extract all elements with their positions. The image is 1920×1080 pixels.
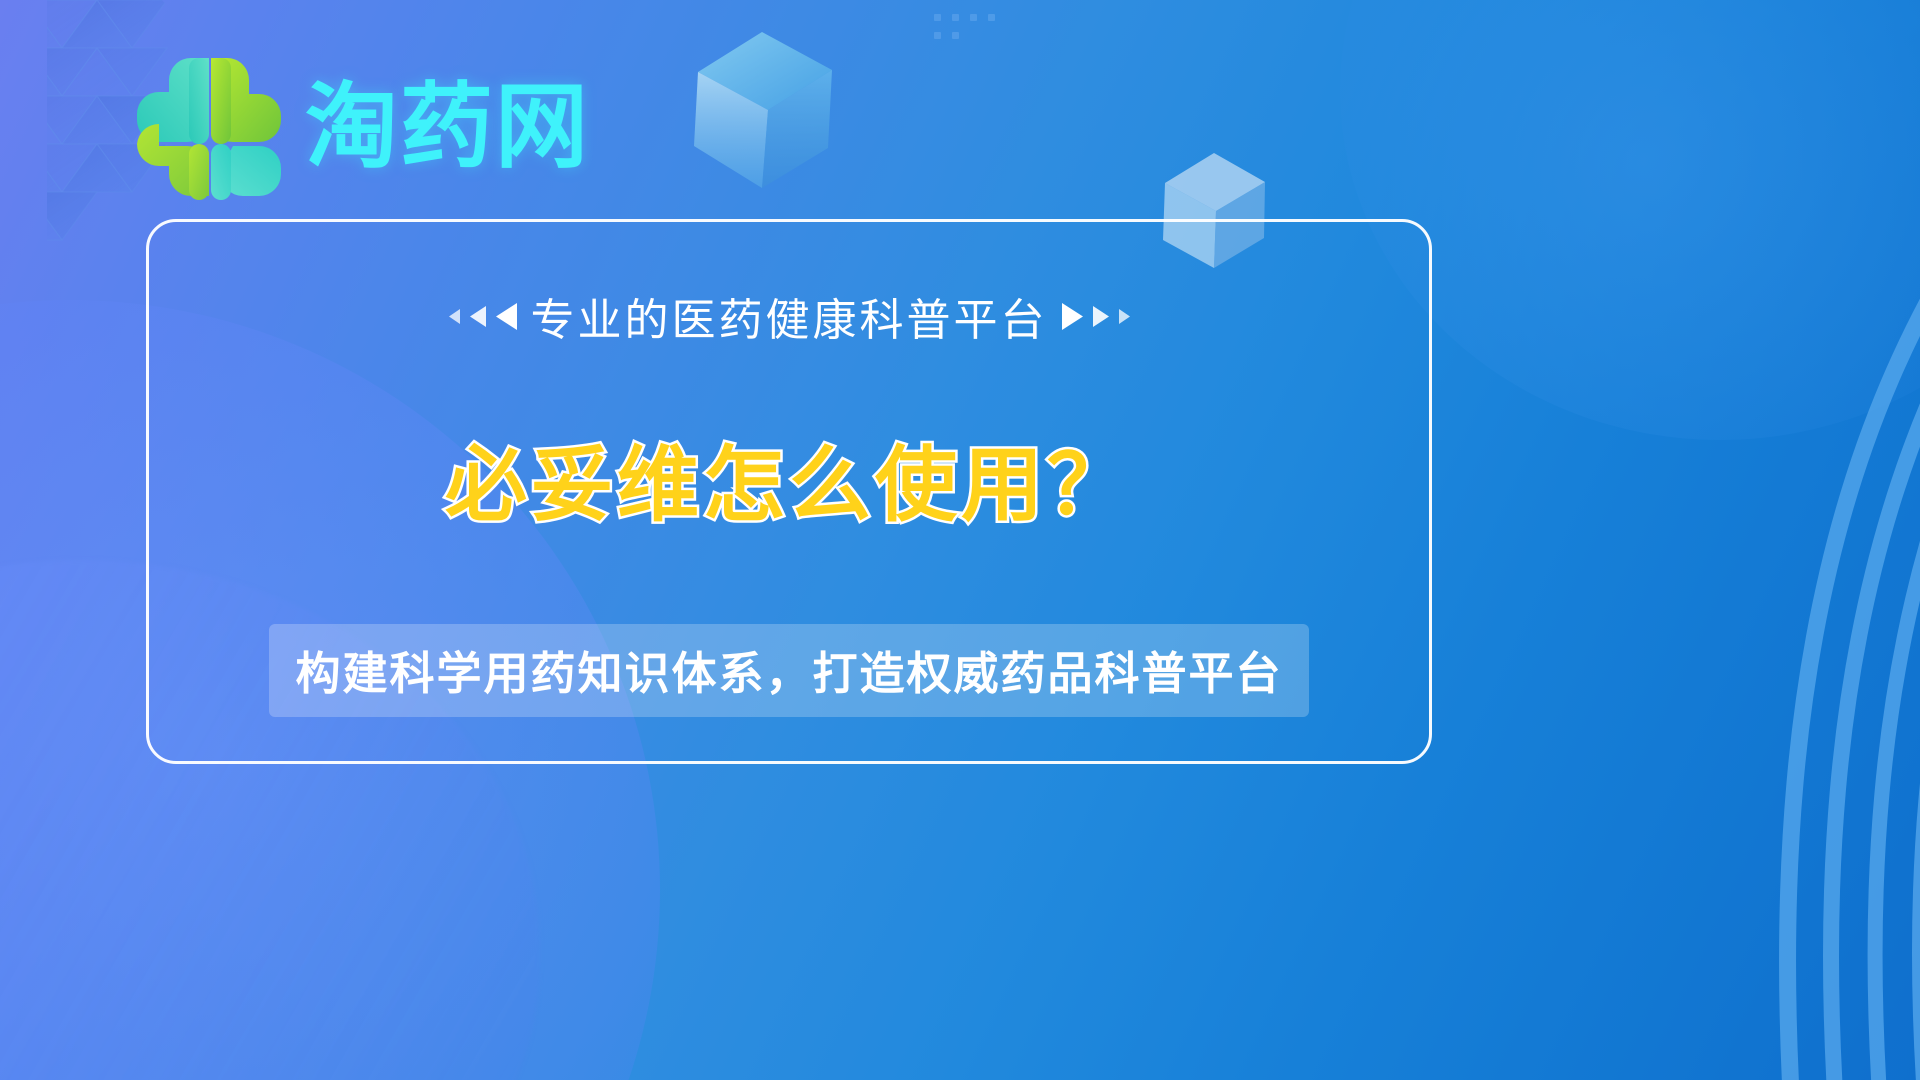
isometric-cube-large-icon	[690, 28, 840, 198]
page-title: 必妥维怎么使用？	[149, 418, 1429, 537]
tagline-text: 构建科学用药知识体系，打造权威药品科普平台	[269, 624, 1308, 717]
tagline-container: 构建科学用药知识体系，打造权威药品科普平台	[201, 624, 1377, 717]
dot-grid-icon	[930, 10, 1050, 80]
eyebrow-row: 专业的医药健康科普平台	[149, 284, 1429, 348]
brand-name: 淘药网	[305, 81, 590, 174]
triple-right-triangle-icon	[1060, 302, 1131, 331]
eyebrow-text: 专业的医药健康科普平台	[531, 284, 1048, 348]
brand-header: 淘药网	[137, 52, 590, 202]
pinwheel-medical-cross-icon	[137, 52, 283, 202]
main-content-card: 专业的医药健康科普平台 必妥维怎么使用？ 构建科学用药知识体系，打造权威药品科普…	[146, 219, 1432, 764]
triple-left-triangle-icon	[448, 302, 519, 331]
banner-canvas: 淘药网 专业的医药健康科普平台 必妥维怎么使用？ 构建科学用药知识体系，打造权威…	[0, 0, 1920, 1080]
